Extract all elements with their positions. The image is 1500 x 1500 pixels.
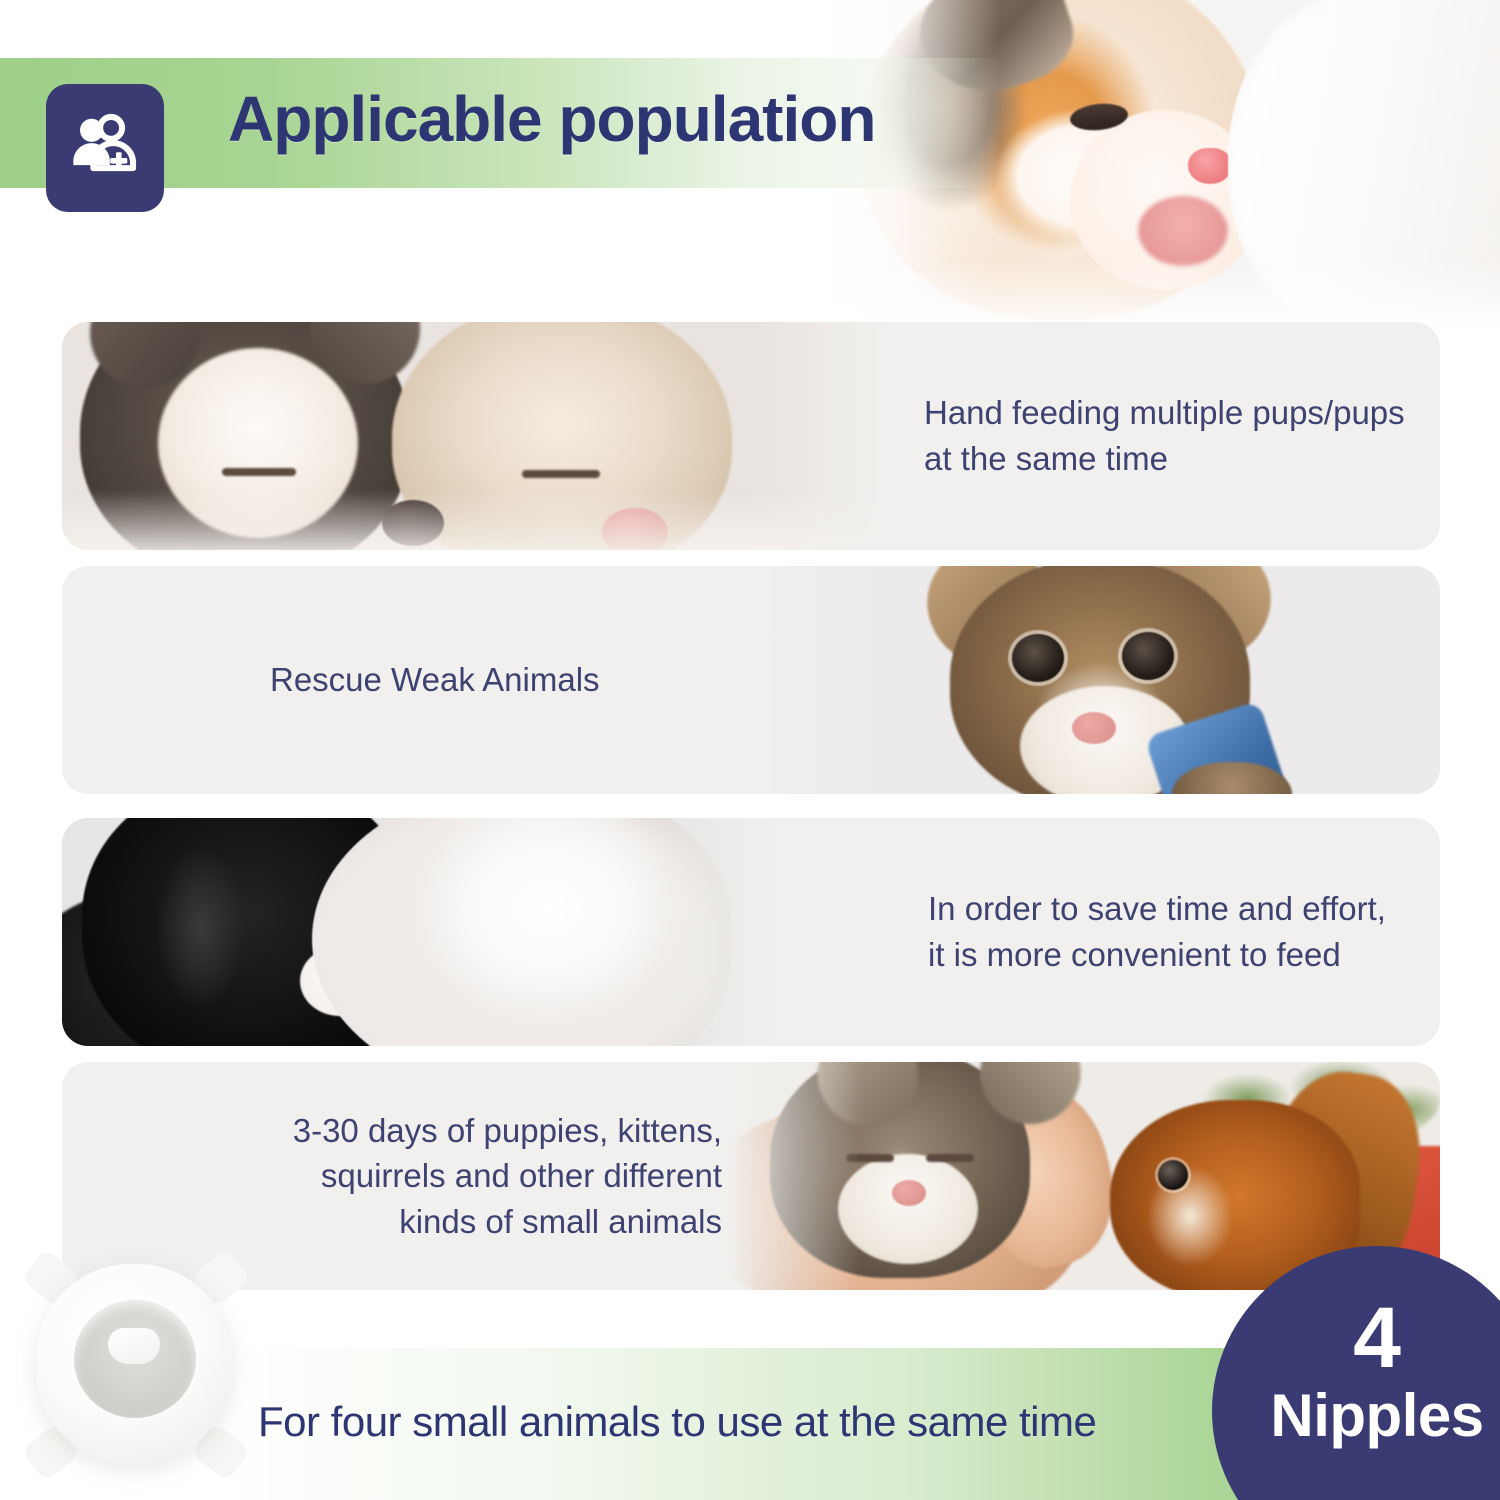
nipple-teat: [108, 1328, 160, 1364]
card-rescue-weak: Rescue Weak Animals: [62, 566, 1440, 794]
card-text-line: In order to save time and effort,: [928, 886, 1428, 932]
black-puppy-feeder-photo: [62, 818, 802, 1046]
badge-label: Nipples: [1270, 1386, 1483, 1446]
newborn-kitten-eye-right: [926, 1154, 974, 1162]
photo-fade-right: [652, 818, 802, 1046]
squirrel-eye: [1158, 1160, 1188, 1190]
badge-number: 4: [1353, 1298, 1401, 1380]
card-text-line: at the same time: [924, 436, 1440, 482]
card-save-time-text: In order to save time and effort, it is …: [928, 818, 1428, 1046]
infographic-page: Applicable population Hand feeding multi…: [0, 0, 1500, 1500]
puppy-cream-eye: [522, 470, 600, 478]
card-save-time: In order to save time and effort, it is …: [62, 818, 1440, 1046]
hero-kitten-chin: [1138, 196, 1228, 266]
hero-kitten-nose: [1188, 148, 1232, 184]
silicone-nipple-disc-photo: [22, 1256, 247, 1481]
card-text-line: Rescue Weak Animals: [270, 657, 750, 703]
card-hand-feeding: Hand feeding multiple pups/pups at the s…: [62, 322, 1440, 550]
card-text-line: Hand feeding multiple pups/pups: [924, 390, 1440, 436]
tabby-kitten-photo: [740, 566, 1440, 794]
puppy-grey-eye: [222, 468, 296, 476]
card-rescue-weak-text: Rescue Weak Animals: [270, 566, 750, 794]
two-husky-puppies-photo: [62, 322, 902, 550]
kitten-eye-right: [1122, 632, 1174, 680]
hero-fade-bottom: [820, 260, 1500, 330]
card-animal-types-text: 3-30 days of puppies, kittens, squirrels…: [222, 1062, 722, 1290]
photo-fade-right: [752, 322, 902, 550]
card-text-line: kinds of small animals: [222, 1199, 722, 1245]
kitten-eye-left: [1012, 634, 1064, 682]
people-add-icon: [46, 84, 164, 212]
newborn-kitten-nose: [892, 1180, 926, 1206]
card-animal-types: 3-30 days of puppies, kittens, squirrels…: [62, 1062, 1440, 1290]
photo-fade-left: [710, 1062, 860, 1290]
kitten-nose: [1072, 712, 1116, 744]
bottom-caption: For four small animals to use at the sam…: [258, 1398, 1096, 1446]
card-text-line: 3-30 days of puppies, kittens,: [222, 1108, 722, 1154]
card-hand-feeding-text: Hand feeding multiple pups/pups at the s…: [924, 322, 1440, 550]
photo-fade-left: [740, 566, 890, 794]
card-text-line: it is more convenient to feed: [928, 932, 1428, 978]
card-text-line: squirrels and other different: [222, 1153, 722, 1199]
page-title: Applicable population: [228, 82, 875, 156]
